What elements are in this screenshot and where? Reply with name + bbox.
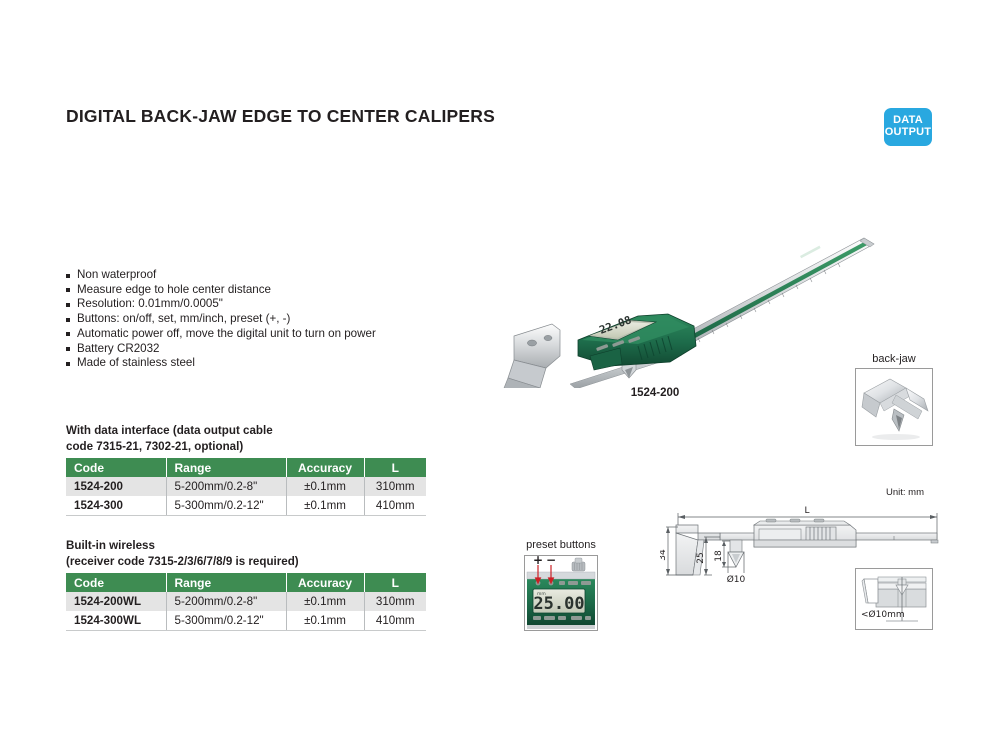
table-row: 1524-300 5-300mm/0.2-12" ±0.1mm 410mm xyxy=(66,496,426,516)
dimension-label-L: L xyxy=(804,506,809,516)
dimension-label-18: 18 xyxy=(714,550,724,562)
cell-code: 1524-200WL xyxy=(66,592,166,611)
column-header-l: L xyxy=(364,573,426,592)
feature-text: Measure edge to hole center distance xyxy=(77,283,271,298)
badge-line-2: OUTPUT xyxy=(885,127,931,139)
cell-accuracy: ±0.1mm xyxy=(286,496,364,516)
cell-range: 5-300mm/0.2-12" xyxy=(166,611,286,631)
preset-buttons-photo: 25.00 mm + − xyxy=(524,555,598,631)
product-photo-main: 22.08 xyxy=(470,228,880,388)
cell-accuracy: ±0.1mm xyxy=(286,592,364,611)
back-jaw-photo xyxy=(855,368,933,446)
column-header-code: Code xyxy=(66,573,166,592)
table-caption-line-1: Built-in wireless xyxy=(66,539,426,553)
list-item: Resolution: 0.01mm/0.0005" xyxy=(66,297,466,312)
cell-range: 5-200mm/0.2-8" xyxy=(166,592,286,611)
column-header-range: Range xyxy=(166,458,286,477)
table-caption-line-1: With data interface (data output cable xyxy=(66,424,426,438)
list-item: Measure edge to hole center distance xyxy=(66,283,466,298)
column-header-l: L xyxy=(364,458,426,477)
table-header-row: Code Range Accuracy L xyxy=(66,573,426,592)
bullet-square-icon xyxy=(66,274,70,278)
table-row: 1524-200WL 5-200mm/0.2-8" ±0.1mm 310mm xyxy=(66,592,426,611)
cell-code: 1524-200 xyxy=(66,477,166,496)
bullet-square-icon xyxy=(66,332,70,336)
preset-minus-symbol: − xyxy=(546,556,556,567)
bullet-square-icon xyxy=(66,347,70,351)
table: Code Range Accuracy L 1524-200WL 5-200mm… xyxy=(66,573,426,631)
lcd-reading-preset: 25.00 xyxy=(533,594,584,614)
feature-list: Non waterproof Measure edge to hole cent… xyxy=(66,268,466,371)
feature-text: Battery CR2032 xyxy=(77,342,160,357)
list-item: Buttons: on/off, set, mm/inch, preset (+… xyxy=(66,312,466,327)
table-row: 1524-200 5-200mm/0.2-8" ±0.1mm 310mm xyxy=(66,477,426,496)
feature-text: Made of stainless steel xyxy=(77,356,195,371)
feature-text: Buttons: on/off, set, mm/inch, preset (+… xyxy=(77,312,290,327)
hole-measurement-diagram: <Ø10mm xyxy=(855,568,933,630)
table-header-row: Code Range Accuracy L xyxy=(66,458,426,477)
column-header-accuracy: Accuracy xyxy=(286,573,364,592)
list-item: Automatic power off, move the digital un… xyxy=(66,327,466,342)
spec-table-wireless: Built-in wireless (receiver code 7315-2/… xyxy=(66,539,426,631)
cell-l: 310mm xyxy=(364,592,426,611)
cell-range: 5-200mm/0.2-8" xyxy=(166,477,286,496)
page-title: DIGITAL BACK-JAW EDGE TO CENTER CALIPERS xyxy=(66,106,495,127)
catalog-page: DIGITAL BACK-JAW EDGE TO CENTER CALIPERS… xyxy=(0,0,1000,736)
cell-l: 310mm xyxy=(364,477,426,496)
table-caption-line-2: code 7315-21, 7302-21, optional) xyxy=(66,440,426,454)
main-photo-caption: 1524-200 xyxy=(595,387,715,399)
back-jaw-label: back-jaw xyxy=(855,353,933,365)
column-header-range: Range xyxy=(166,573,286,592)
table-row: 1524-300WL 5-300mm/0.2-12" ±0.1mm 410mm xyxy=(66,611,426,631)
bullet-square-icon xyxy=(66,303,70,307)
cell-code: 1524-300 xyxy=(66,496,166,516)
cell-l: 410mm xyxy=(364,496,426,516)
list-item: Made of stainless steel xyxy=(66,356,466,371)
spec-table-data-interface: With data interface (data output cable c… xyxy=(66,424,426,516)
dimension-label-25: 25 xyxy=(696,552,706,563)
preset-buttons-label: preset buttons xyxy=(518,539,604,551)
table-caption-line-2: (receiver code 7315-2/3/6/7/8/9 is requi… xyxy=(66,555,426,569)
feature-text: Resolution: 0.01mm/0.0005" xyxy=(77,297,223,312)
bullet-square-icon xyxy=(66,362,70,366)
column-header-code: Code xyxy=(66,458,166,477)
bullet-square-icon xyxy=(66,318,70,322)
cell-accuracy: ±0.1mm xyxy=(286,477,364,496)
dimension-label-diameter: Ø10 xyxy=(727,574,746,585)
list-item: Non waterproof xyxy=(66,268,466,283)
cell-range: 5-300mm/0.2-12" xyxy=(166,496,286,516)
feature-text: Automatic power off, move the digital un… xyxy=(77,327,376,342)
cell-code: 1524-300WL xyxy=(66,611,166,631)
feature-text: Non waterproof xyxy=(77,268,156,283)
table: Code Range Accuracy L 1524-200 5-200mm/0… xyxy=(66,458,426,516)
dimension-label-34: 34 xyxy=(660,549,668,561)
bullet-square-icon xyxy=(66,288,70,292)
cell-accuracy: ±0.1mm xyxy=(286,611,364,631)
data-output-badge: DATA OUTPUT xyxy=(884,108,932,146)
column-header-accuracy: Accuracy xyxy=(286,458,364,477)
svg-text:mm: mm xyxy=(537,592,546,597)
cell-l: 410mm xyxy=(364,611,426,631)
list-item: Battery CR2032 xyxy=(66,342,466,357)
hole-diagram-label: <Ø10mm xyxy=(861,609,905,620)
preset-plus-symbol: + xyxy=(533,556,543,567)
